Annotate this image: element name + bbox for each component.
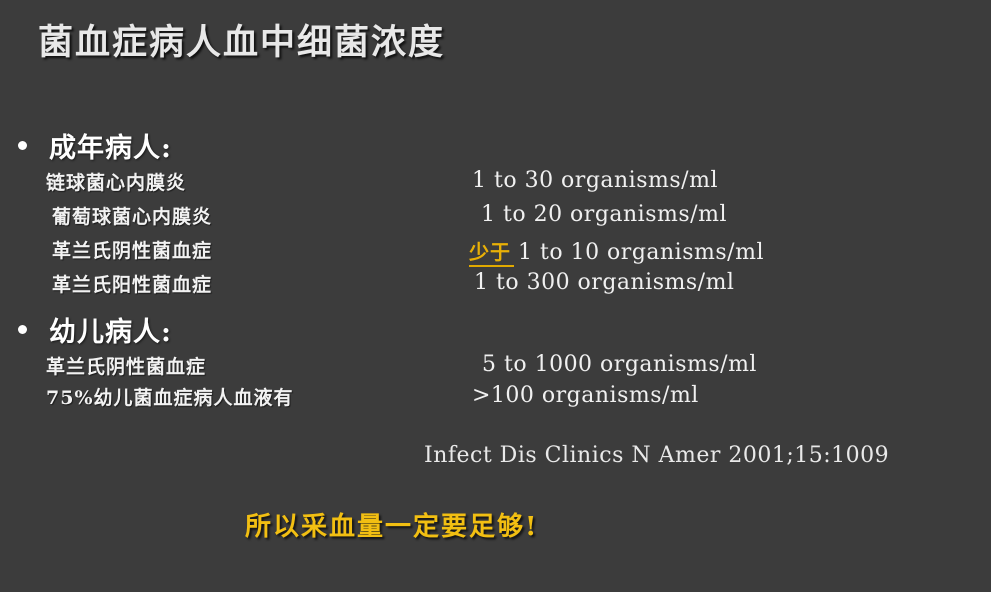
bullet-dot-icon bbox=[18, 325, 27, 334]
table-row: 革兰氏阴性菌血症 5 to 1000 organisms/ml bbox=[0, 352, 991, 386]
row-value: 1 to 300 organisms/ml bbox=[474, 270, 734, 295]
row-value: 1 to 20 organisms/ml bbox=[481, 202, 727, 227]
section-heading-label: 幼儿病人: bbox=[49, 310, 172, 349]
table-row: 链球菌心内膜炎 1 to 30 organisms/ml bbox=[0, 168, 991, 202]
page-title: 菌血症病人血中细菌浓度 bbox=[38, 14, 445, 65]
row-value: 1 to 30 organisms/ml bbox=[472, 168, 718, 193]
row-value-text: 1 to 10 organisms/ml bbox=[518, 240, 764, 265]
row-label: 革兰氏阴性菌血症 bbox=[46, 352, 206, 379]
section-heading-label: 成年病人: bbox=[49, 126, 172, 165]
bullet-dot-icon bbox=[18, 141, 27, 150]
row-label: 革兰氏阴性菌血症 bbox=[52, 236, 212, 263]
section-heading-adults: 成年病人: bbox=[18, 126, 172, 165]
row-label: 链球菌心内膜炎 bbox=[46, 168, 186, 195]
table-row: 革兰氏阳性菌血症 1 to 300 organisms/ml bbox=[0, 270, 991, 304]
row-label: 葡萄球菌心内膜炎 bbox=[52, 202, 212, 229]
row-value-prefix-highlight: 少于 bbox=[469, 240, 514, 267]
slide-canvas: 菌血症病人血中细菌浓度 成年病人: 链球菌心内膜炎 1 to 30 organi… bbox=[0, 0, 991, 592]
table-row: 革兰氏阴性菌血症 少于1 to 10 organisms/ml bbox=[0, 236, 991, 270]
conclusion-text: 所以采血量一定要足够! bbox=[245, 506, 538, 543]
row-value-group: 少于1 to 10 organisms/ml bbox=[469, 236, 764, 265]
row-value: >100 organisms/ml bbox=[472, 383, 699, 408]
row-value: 5 to 1000 organisms/ml bbox=[482, 352, 757, 377]
citation-text: Infect Dis Clinics N Amer 2001;15:1009 bbox=[424, 443, 889, 468]
row-label: 革兰氏阳性菌血症 bbox=[52, 270, 212, 297]
section-heading-infants: 幼儿病人: bbox=[18, 310, 172, 349]
table-row: 75%幼儿菌血症病人血液有 >100 organisms/ml bbox=[0, 383, 991, 417]
row-label: 75%幼儿菌血症病人血液有 bbox=[46, 383, 294, 410]
table-row: 葡萄球菌心内膜炎 1 to 20 organisms/ml bbox=[0, 202, 991, 236]
